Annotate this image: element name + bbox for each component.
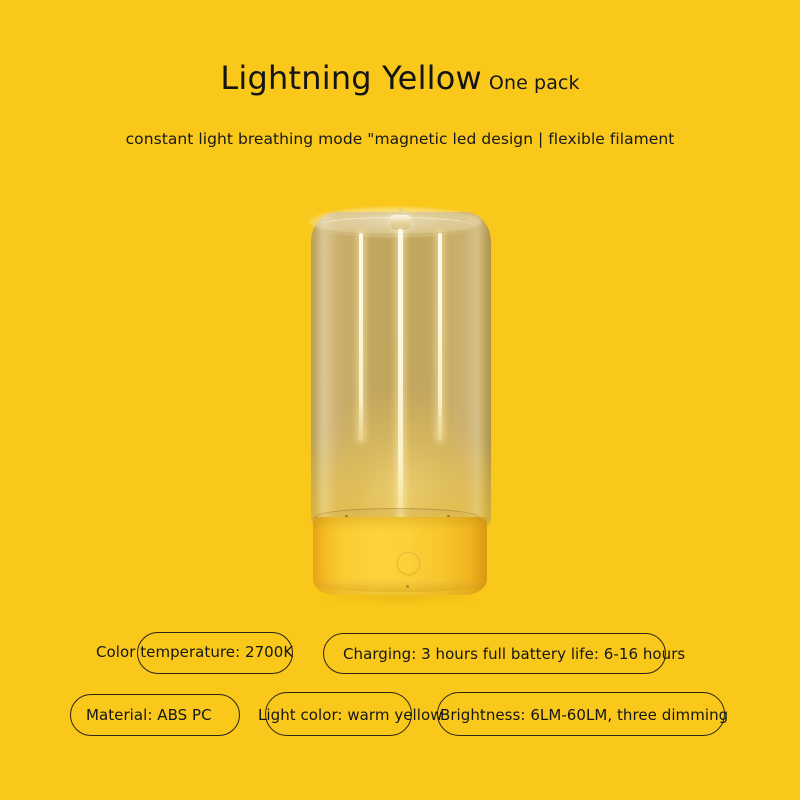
spec-label-material: Material: ABS PC [86, 708, 212, 723]
spec-label-light-color: Light color: warm yellow [258, 708, 443, 723]
product-card: Lightning YellowOne pack constant light … [0, 0, 800, 800]
base-top-shading [313, 517, 487, 531]
product-title: Lightning Yellow [220, 59, 482, 97]
page-title: Lightning YellowOne pack [0, 62, 800, 94]
led-filament-center [398, 229, 403, 522]
led-filament-left [359, 233, 363, 441]
led-filament-right [438, 233, 442, 441]
pack-label: One pack [489, 72, 580, 94]
lamp-base [313, 517, 487, 595]
power-button[interactable] [397, 552, 420, 575]
spec-label-brightness: Brightness: 6LM-60LM, three dimming [440, 708, 728, 723]
product-image [305, 205, 497, 603]
base-bottom-edge [318, 578, 482, 592]
spec-label-charging: Charging: 3 hours full battery life: 6-1… [343, 647, 685, 662]
product-subtitle: constant light breathing mode "magnetic … [0, 130, 800, 148]
spec-label-color-temperature: Color temperature: 2700K [96, 645, 293, 660]
filament-mount-cap [390, 215, 411, 230]
